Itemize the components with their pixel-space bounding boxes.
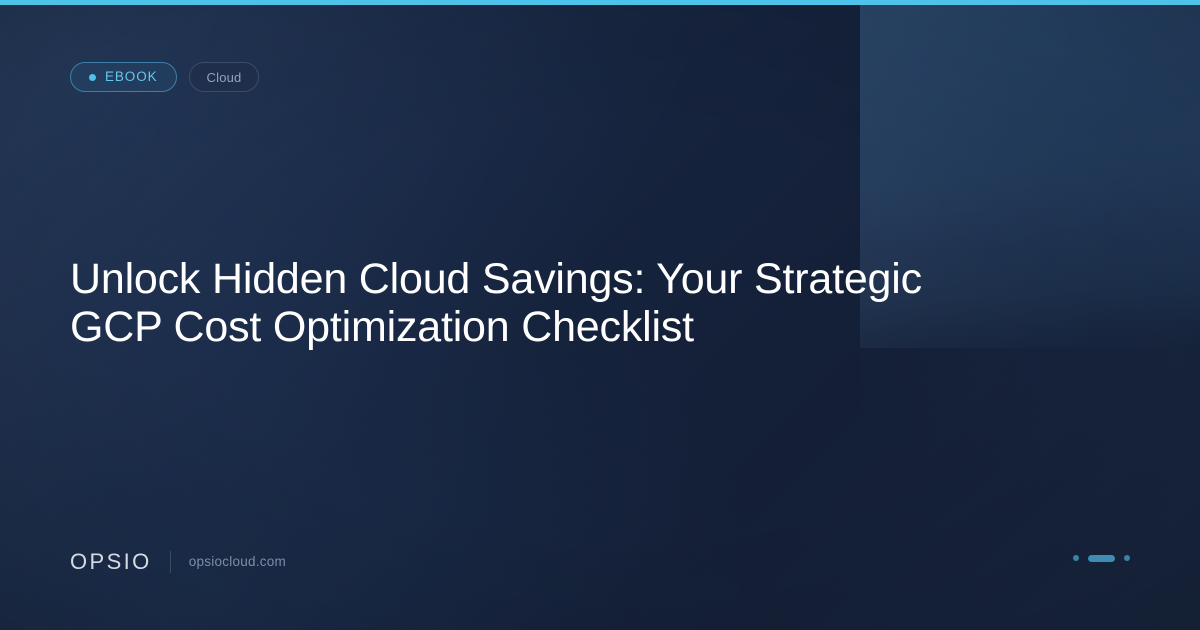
footer: OPSIO opsiocloud.com <box>70 550 286 574</box>
brand-logo-opsio: OPSIO <box>70 551 152 573</box>
og-card: EBOOK Cloud Unlock Hidden Cloud Savings:… <box>0 0 1200 630</box>
badge-row: EBOOK Cloud <box>70 62 259 92</box>
footer-website-url: opsiocloud.com <box>189 555 286 569</box>
footer-divider <box>170 551 171 573</box>
page-title: Unlock Hidden Cloud Savings: Your Strate… <box>70 255 970 351</box>
page-title-line-1: Unlock Hidden Cloud Savings: Your Strate… <box>70 255 970 303</box>
page-title-line-2: GCP Cost Optimization Checklist <box>70 303 970 351</box>
badge-cloud[interactable]: Cloud <box>189 62 260 92</box>
page-indicator-dot-1[interactable] <box>1073 555 1079 561</box>
page-indicator <box>1073 554 1130 562</box>
badge-cloud-label: Cloud <box>207 71 242 84</box>
bullet-dot-icon <box>89 74 96 81</box>
badge-ebook-label: EBOOK <box>105 70 158 84</box>
page-indicator-dot-3[interactable] <box>1124 555 1130 561</box>
page-indicator-dot-active[interactable] <box>1088 555 1115 562</box>
top-accent-bar <box>0 0 1200 5</box>
badge-ebook[interactable]: EBOOK <box>70 62 177 92</box>
